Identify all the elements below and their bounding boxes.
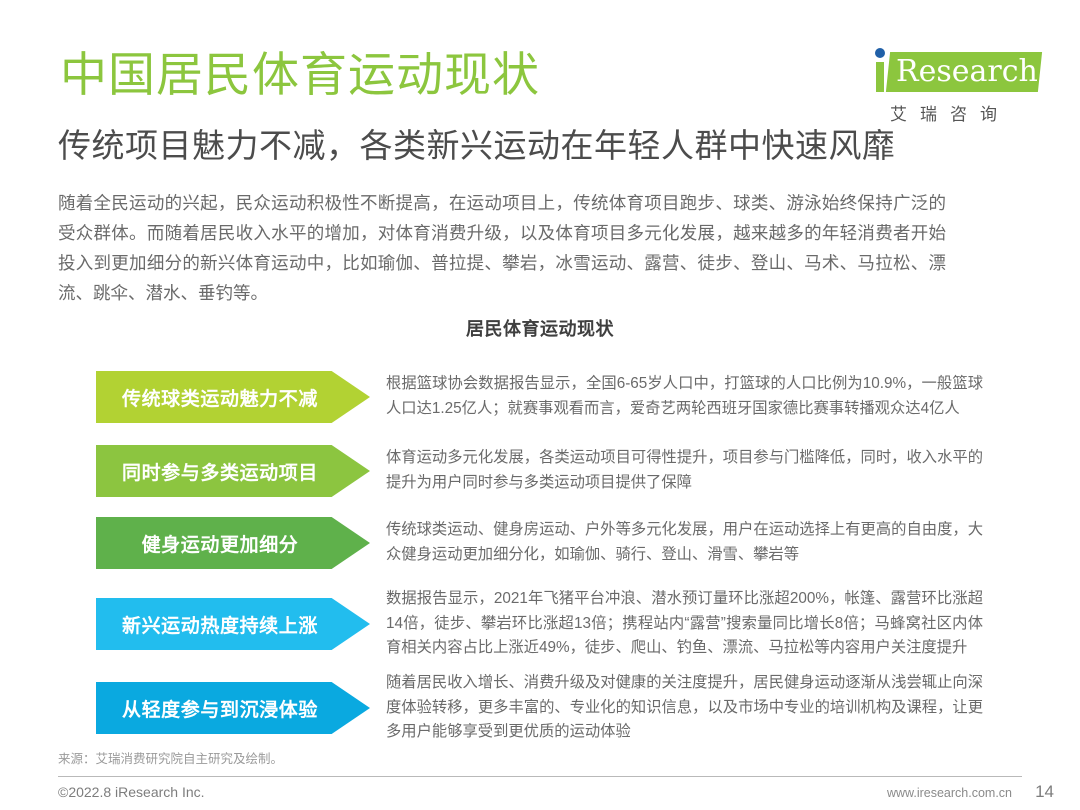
row-description: 数据报告显示，2021年飞猪平台冲浪、潜水预订量环比涨超200%，帐篷、露营环比… xyxy=(386,587,983,661)
footer-copyright: ©2022.8 iResearch Inc. xyxy=(58,784,205,800)
row-description: 随着居民收入增长、消费升级及对健康的关注度提升，居民健身运动逐渐从浅尝辄止向深度… xyxy=(386,671,983,745)
footer-divider xyxy=(58,776,1022,777)
table-row: 新兴运动热度持续上涨 数据报告显示，2021年飞猪平台冲浪、潜水预订量环比涨超2… xyxy=(0,580,1080,668)
footer-url: www.iresearch.com.cn xyxy=(887,786,1012,800)
table-row: 传统球类运动魅力不减 根据篮球协会数据报告显示，全国6-65岁人口中，打篮球的人… xyxy=(0,358,1080,436)
row-arrow-label: 健身运动更加细分 xyxy=(142,530,299,557)
source-note: 来源：艾瑞消费研究院自主研究及绘制。 xyxy=(58,748,283,767)
row-arrow-label: 传统球类运动魅力不减 xyxy=(122,384,318,411)
row-arrow-badge: 从轻度参与到沉浸体验 xyxy=(96,682,370,734)
intro-paragraph: 随着全民运动的兴起，民众运动积极性不断提高，在运动项目上，传统体育项目跑步、球类… xyxy=(58,188,946,308)
logo-chinese-name: 艾瑞咨询 xyxy=(890,100,1010,125)
row-arrow-badge: 同时参与多类运动项目 xyxy=(96,445,370,497)
logo-i-stem-shape xyxy=(876,62,884,92)
logo-wordmark: Research xyxy=(896,54,1038,89)
iresearch-logo: Research 艾瑞咨询 xyxy=(860,48,1040,128)
row-arrow-label: 同时参与多类运动项目 xyxy=(122,458,318,485)
page-title: 中国居民体育运动现状 xyxy=(60,48,540,102)
chart-title: 居民体育运动现状 xyxy=(0,315,1080,341)
row-arrow-badge: 新兴运动热度持续上涨 xyxy=(96,598,370,650)
row-description: 体育运动多元化发展，各类运动项目可得性提升，项目参与门槛降低，同时，收入水平的提… xyxy=(386,446,983,496)
page-number: 14 xyxy=(1035,782,1054,802)
row-arrow-label: 从轻度参与到沉浸体验 xyxy=(122,695,318,722)
table-row: 健身运动更加细分 传统球类运动、健身房运动、户外等多元化发展，用户在运动选择上有… xyxy=(0,506,1080,580)
row-arrow-badge: 健身运动更加细分 xyxy=(96,517,370,569)
table-row: 从轻度参与到沉浸体验 随着居民收入增长、消费升级及对健康的关注度提升，居民健身运… xyxy=(0,668,1080,748)
page-subtitle: 传统项目魅力不减，各类新兴运动在年轻人群中快速风靡 xyxy=(58,126,896,166)
table-row: 同时参与多类运动项目 体育运动多元化发展，各类运动项目可得性提升，项目参与门槛降… xyxy=(0,436,1080,506)
logo-mark: Research xyxy=(860,48,1040,96)
logo-i-dot-icon xyxy=(875,48,885,58)
row-description: 传统球类运动、健身房运动、户外等多元化发展，用户在运动选择上有更高的自由度，大众… xyxy=(386,518,983,568)
row-arrow-label: 新兴运动热度持续上涨 xyxy=(122,611,318,638)
chart-rows: 传统球类运动魅力不减 根据篮球协会数据报告显示，全国6-65岁人口中，打篮球的人… xyxy=(0,358,1080,748)
row-arrow-badge: 传统球类运动魅力不减 xyxy=(96,371,370,423)
row-description: 根据篮球协会数据报告显示，全国6-65岁人口中，打篮球的人口比例为10.9%，一… xyxy=(386,372,983,422)
